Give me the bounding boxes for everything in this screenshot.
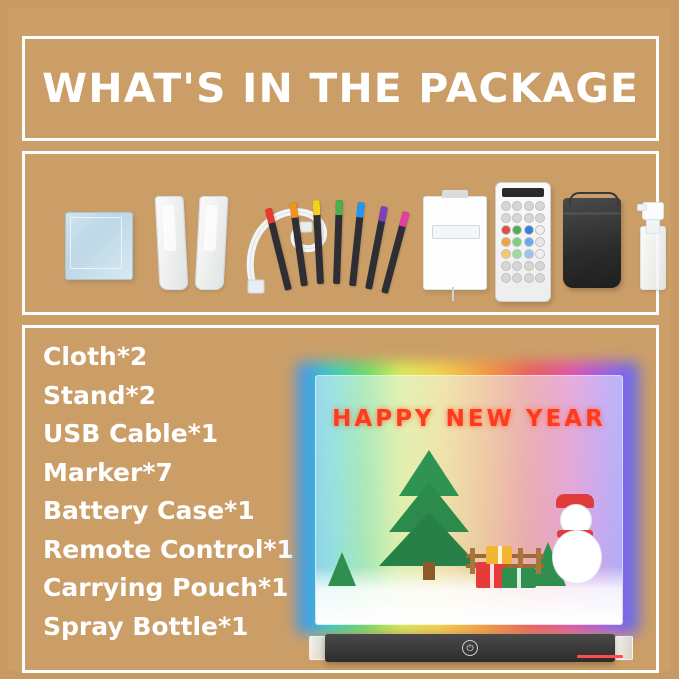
tree-tier-bottom [379,512,479,566]
spray-nozzle [637,204,647,211]
marker-icon [283,200,403,296]
remote-button [524,237,534,247]
power-cord [577,655,623,658]
ribbon [490,562,494,588]
spray-bottle-icon [637,194,667,290]
list-item: Marker*7 [43,454,333,493]
remote-button [524,273,534,283]
snowman [548,504,604,590]
package-contents-list: Cloth*2 Stand*2 USB Cable*1 Marker*7 Bat… [43,338,333,646]
battery-lid [432,225,480,239]
snowman-body [552,530,602,584]
remote-button-row-7 [501,273,545,283]
remote-button [512,201,522,211]
list-item: Battery Case*1 [43,492,333,531]
list-item: Carrying Pouch*1 [43,569,333,608]
list-item: Spray Bottle*1 [43,608,333,647]
product-infographic: WHAT'S IN THE PACKAGE [0,0,679,679]
gift-box-green [502,568,536,588]
title-panel: WHAT'S IN THE PACKAGE [22,36,659,141]
poster-board: WHAT'S IN THE PACKAGE [8,8,671,671]
marker-7 [381,211,410,294]
small-tree [328,552,356,586]
led-writing-board-photo: HAPPY NEW YEAR [297,362,649,662]
list-item: Stand*2 [43,377,333,416]
fence-post [470,548,475,574]
battery-wire [452,287,454,301]
marker-2 [289,202,308,286]
remote-button [501,213,511,223]
remote-button [501,201,511,211]
tree-trunk [423,562,435,580]
parts-strip-panel [22,151,659,315]
remote-button [512,249,522,259]
remote-button-row-6 [501,261,545,271]
remote-button [524,249,534,259]
remote-button [535,249,545,259]
acrylic-panel: HAPPY NEW YEAR [315,375,623,625]
cloth-icon [65,212,133,280]
remote-button [512,237,522,247]
remote-button [535,273,545,283]
contents-panel: Cloth*2 Stand*2 USB Cable*1 Marker*7 Bat… [22,325,659,673]
remote-button [535,201,545,211]
remote-button [535,261,545,271]
stand-right [195,196,229,290]
remote-button-red [501,225,511,235]
list-item: Cloth*2 [43,338,333,377]
remote-button-row-5 [501,249,545,259]
remote-button-row-3 [501,225,545,235]
remote-button-green [512,225,522,235]
remote-button [512,261,522,271]
power-icon[interactable]: ⏻ [462,640,478,656]
gift-box-yellow [486,546,512,564]
stand-left [155,196,189,290]
remote-button [501,237,511,247]
page-title: WHAT'S IN THE PACKAGE [42,66,639,112]
remote-control-icon [495,182,551,302]
handwritten-text: HAPPY NEW YEAR [316,406,622,432]
remote-button [512,273,522,283]
remote-button [524,213,534,223]
stand-icon [153,196,231,288]
led-base-bar: ⏻ [325,634,615,662]
remote-button [535,213,545,223]
remote-button-white [535,225,545,235]
list-item: Remote Control*1 [43,531,333,570]
remote-button [501,273,511,283]
remote-button-row-2 [501,213,545,223]
remote-button [524,201,534,211]
gift-boxes [476,542,546,588]
list-item: USB Cable*1 [43,415,333,454]
ribbon [517,568,521,588]
remote-button-row-1 [501,201,545,211]
remote-button-row-4 [501,237,545,247]
remote-button-blue [524,225,534,235]
ribbon [498,546,502,564]
remote-button [501,261,511,271]
remote-button [535,237,545,247]
remote-button [501,249,511,259]
remote-display [502,188,544,197]
battery-case-icon [423,196,487,290]
marker-3 [313,200,324,284]
marker-4 [333,200,343,284]
remote-button [512,213,522,223]
spray-body [640,226,666,290]
marker-5 [349,202,365,286]
pouch-icon [563,198,621,288]
parts-row [25,154,656,312]
remote-button [524,261,534,271]
pouch-drawstring [563,212,621,215]
